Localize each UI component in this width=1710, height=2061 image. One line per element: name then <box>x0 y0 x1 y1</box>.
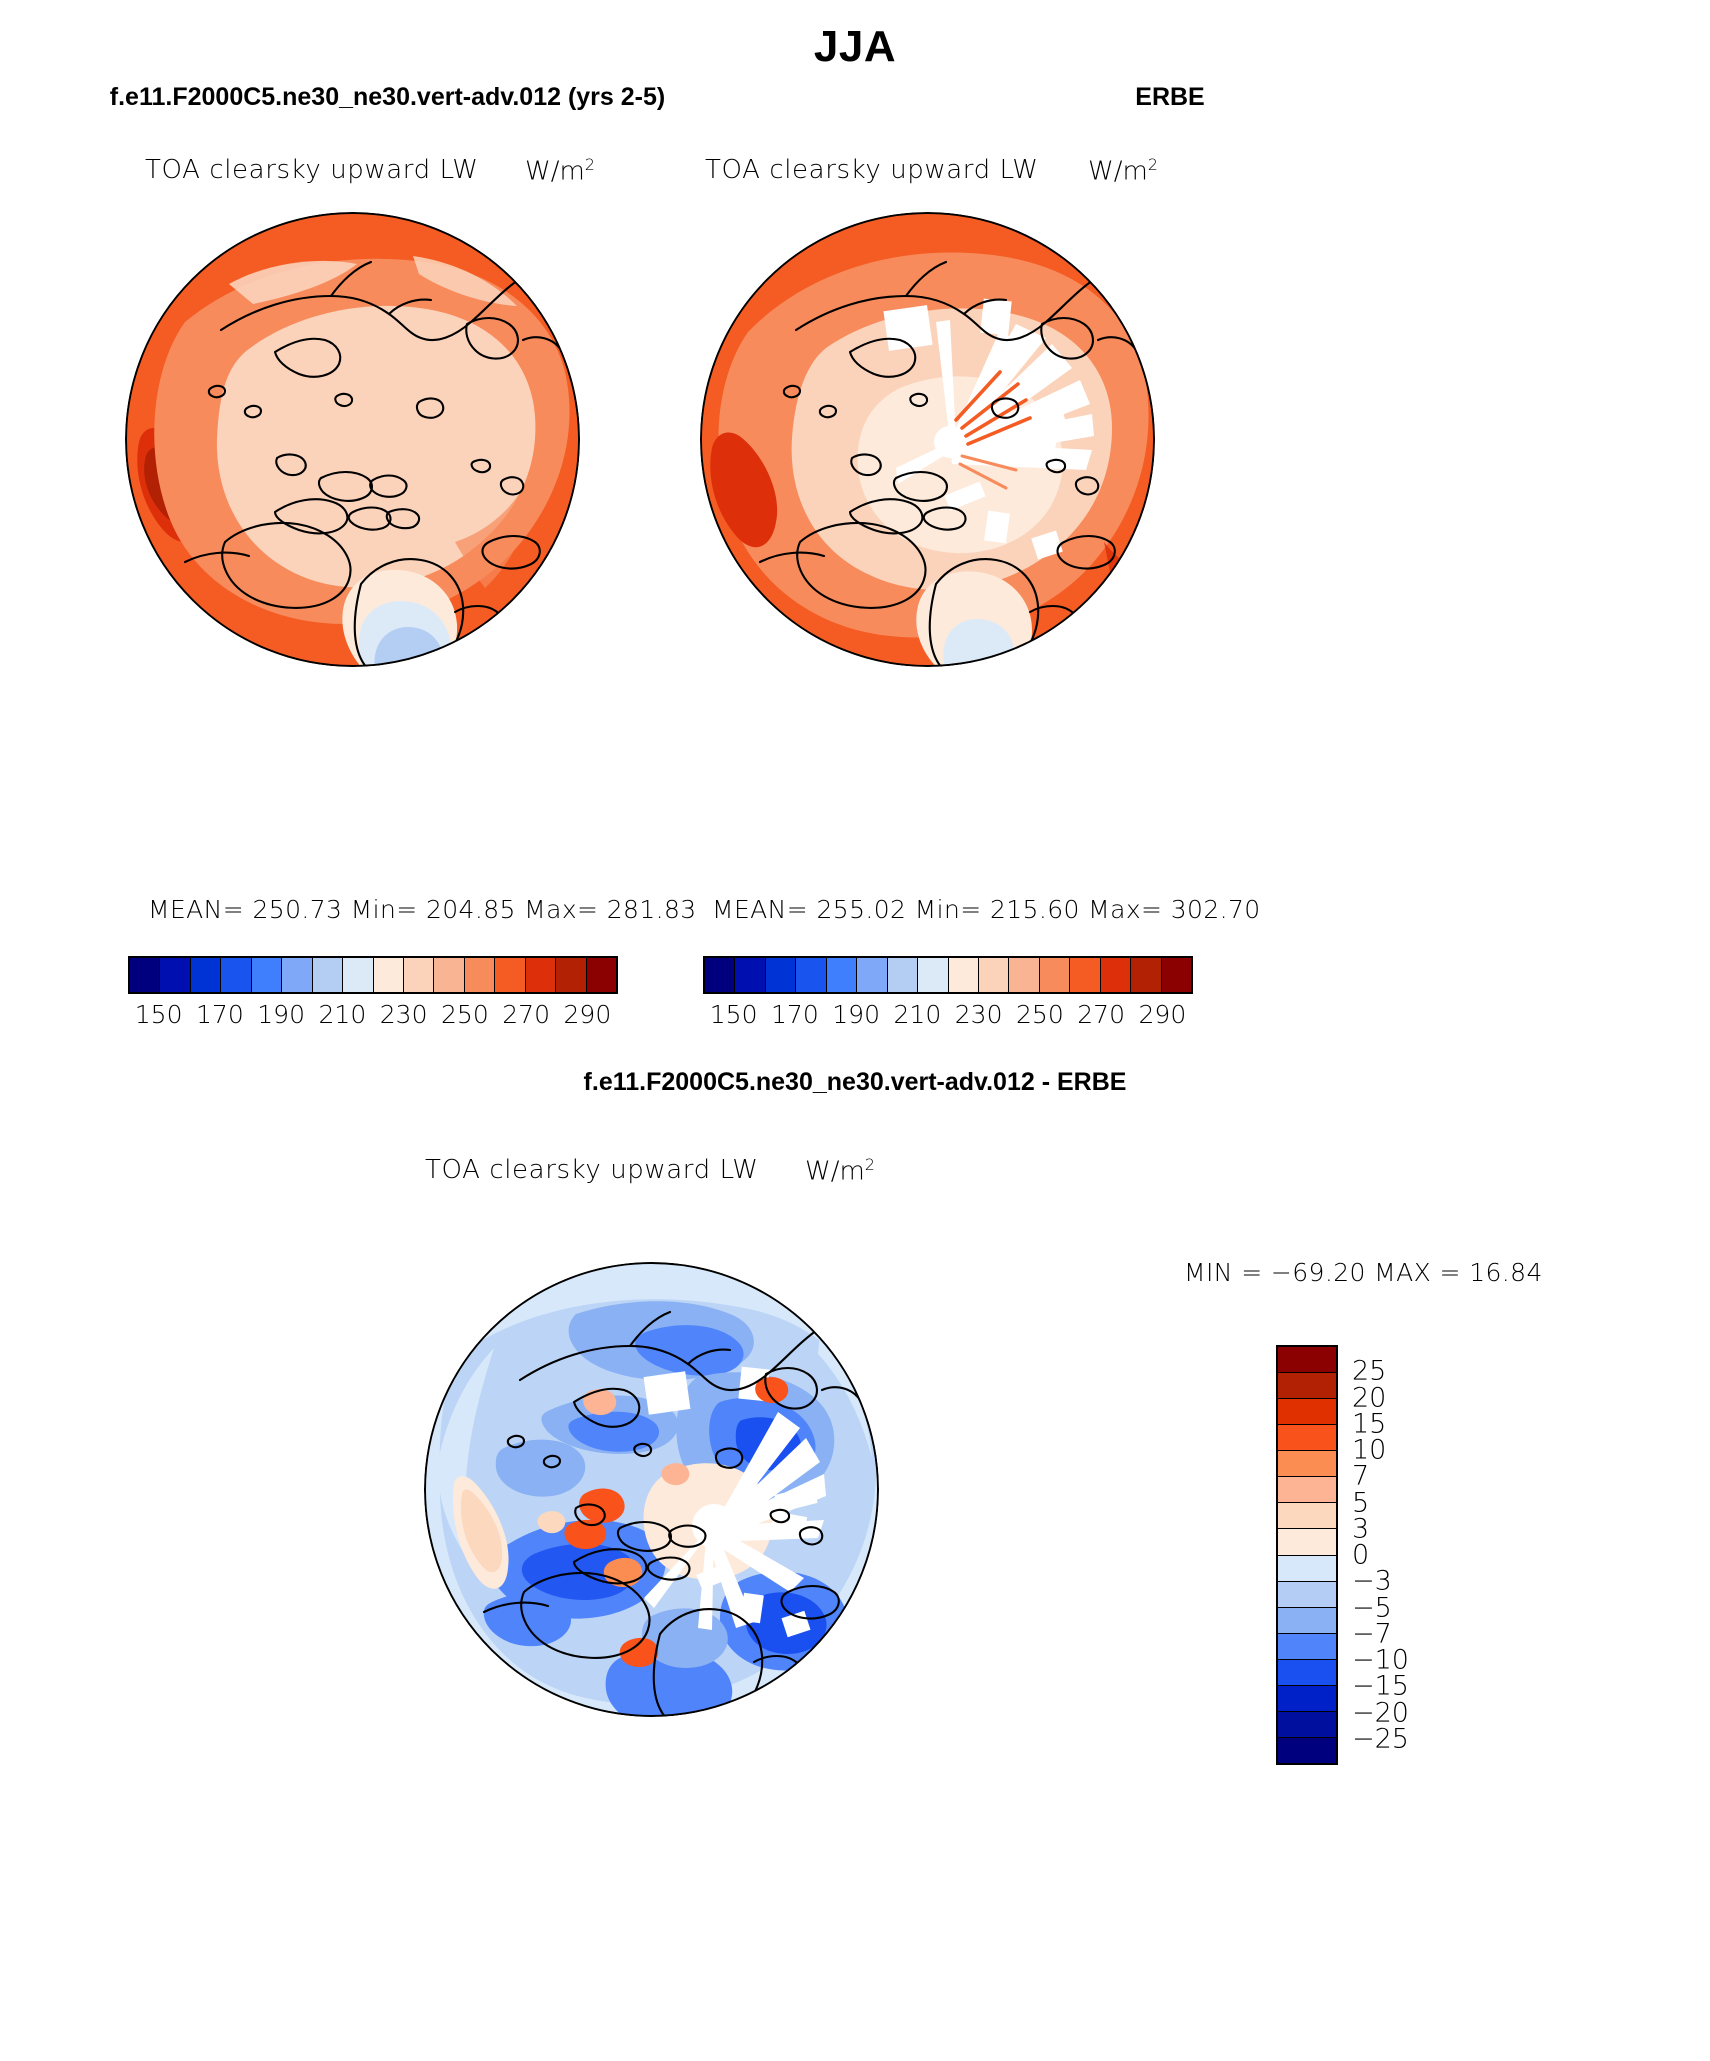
colorbar-tick-label: −25 <box>1352 1723 1442 1754</box>
colorbar-cell <box>313 958 343 992</box>
model-colorbar-ticks: 150170190210230250270290 <box>128 1000 618 1034</box>
obs-polar-map[interactable] <box>700 212 1155 667</box>
obs-map-graphic <box>700 212 1155 667</box>
colorbar-cell <box>857 958 887 992</box>
colorbar-cell <box>221 958 251 992</box>
difference-case-title: f.e11.F2000C5.ne30_ne30.vert-adv.012 - E… <box>0 1068 1710 1097</box>
difference-units-exponent: 2 <box>865 1155 875 1174</box>
difference-units-label: W/m2 <box>805 1155 875 1187</box>
colorbar-cell <box>1009 958 1039 992</box>
colorbar-cell <box>130 958 160 992</box>
colorbar-cell <box>1278 1503 1336 1529</box>
colorbar-tick-label: 270 <box>1077 1000 1125 1029</box>
model-units-text: W/m <box>525 157 585 187</box>
colorbar-cell <box>949 958 979 992</box>
colorbar-cell <box>827 958 857 992</box>
colorbar-cell <box>1278 1451 1336 1477</box>
colorbar-cell <box>796 958 826 992</box>
colorbar-tick-label: 190 <box>832 1000 880 1029</box>
model-stats: MEAN= 250.73 Min= 204.85 Max= 281.83 <box>148 895 697 924</box>
difference-map-graphic <box>424 1262 879 1717</box>
colorbar-cell <box>918 958 948 992</box>
colorbar-cell <box>1162 958 1191 992</box>
colorbar-tick-label: 290 <box>564 1000 612 1029</box>
obs-colorbar[interactable] <box>703 956 1193 994</box>
colorbar-cell <box>556 958 586 992</box>
obs-units-text: W/m <box>1088 157 1148 187</box>
colorbar-cell <box>1278 1477 1336 1503</box>
colorbar-tick-label: 230 <box>380 1000 428 1029</box>
colorbar-cell <box>1278 1556 1336 1582</box>
obs-map-clip <box>700 212 1155 667</box>
difference-variable-label: TOA clearsky upward LW <box>425 1155 759 1185</box>
season-title: JJA <box>0 22 1710 72</box>
colorbar-tick-label: 290 <box>1139 1000 1187 1029</box>
colorbar-cell <box>343 958 373 992</box>
colorbar-cell <box>1278 1529 1336 1555</box>
colorbar-cell <box>1278 1634 1336 1660</box>
colorbar-tick-label: 270 <box>502 1000 550 1029</box>
difference-stats: MIN = −69.20 MAX = 16.84 <box>1184 1258 1543 1287</box>
colorbar-cell <box>434 958 464 992</box>
colorbar-tick-label: 210 <box>894 1000 942 1029</box>
colorbar-cell <box>1278 1660 1336 1686</box>
colorbar-tick-label: 170 <box>771 1000 819 1029</box>
colorbar-cell <box>1278 1738 1336 1763</box>
model-polar-map[interactable] <box>125 212 580 667</box>
colorbar-cell <box>1101 958 1131 992</box>
colorbar-cell <box>1278 1425 1336 1451</box>
colorbar-cell <box>705 958 735 992</box>
colorbar-cell <box>888 958 918 992</box>
colorbar-cell <box>1278 1347 1336 1373</box>
colorbar-tick-label: 230 <box>955 1000 1003 1029</box>
model-map-graphic <box>125 212 580 667</box>
colorbar-cell <box>374 958 404 992</box>
colorbar-tick-label: 150 <box>135 1000 183 1029</box>
difference-colorbar[interactable] <box>1276 1345 1338 1765</box>
colorbar-cell <box>282 958 312 992</box>
colorbar-tick-label: 250 <box>441 1000 489 1029</box>
colorbar-cell <box>1070 958 1100 992</box>
colorbar-cell <box>1278 1686 1336 1712</box>
colorbar-cell <box>191 958 221 992</box>
model-units-label: W/m2 <box>525 155 595 187</box>
model-variable-label: TOA clearsky upward LW <box>145 155 479 185</box>
colorbar-cell <box>252 958 282 992</box>
difference-polar-map[interactable] <box>424 1262 879 1717</box>
colorbar-cell <box>1278 1373 1336 1399</box>
colorbar-cell <box>404 958 434 992</box>
colorbar-cell <box>1040 958 1070 992</box>
obs-case-title: ERBE <box>790 83 1550 112</box>
colorbar-tick-label: 170 <box>196 1000 244 1029</box>
colorbar-cell <box>766 958 796 992</box>
model-case-title: f.e11.F2000C5.ne30_ne30.vert-adv.012 (yr… <box>0 83 775 112</box>
colorbar-tick-label: 190 <box>257 1000 305 1029</box>
colorbar-cell <box>465 958 495 992</box>
colorbar-tick-label: 210 <box>319 1000 367 1029</box>
colorbar-cell <box>979 958 1009 992</box>
colorbar-tick-label: 150 <box>710 1000 758 1029</box>
difference-map-clip <box>424 1262 879 1717</box>
obs-variable-label: TOA clearsky upward LW <box>705 155 1039 185</box>
obs-units-exponent: 2 <box>1148 155 1158 174</box>
colorbar-cell <box>735 958 765 992</box>
obs-colorbar-ticks: 150170190210230250270290 <box>703 1000 1193 1034</box>
colorbar-cell <box>160 958 190 992</box>
amwg-polar-diagnostic-page: { "season": "JJA", "panels": { "model": … <box>0 0 1710 2061</box>
colorbar-cell <box>526 958 556 992</box>
colorbar-cell <box>495 958 525 992</box>
model-colorbar[interactable] <box>128 956 618 994</box>
obs-units-label: W/m2 <box>1088 155 1158 187</box>
obs-stats: MEAN= 255.02 Min= 215.60 Max= 302.70 <box>712 895 1261 924</box>
colorbar-cell <box>1278 1712 1336 1738</box>
colorbar-tick-label: 250 <box>1016 1000 1064 1029</box>
colorbar-cell <box>1278 1399 1336 1425</box>
model-units-exponent: 2 <box>585 155 595 174</box>
colorbar-cell <box>1131 958 1161 992</box>
colorbar-cell <box>587 958 616 992</box>
difference-units-text: W/m <box>805 1157 865 1187</box>
model-map-clip <box>125 212 580 667</box>
colorbar-cell <box>1278 1608 1336 1634</box>
colorbar-cell <box>1278 1582 1336 1608</box>
